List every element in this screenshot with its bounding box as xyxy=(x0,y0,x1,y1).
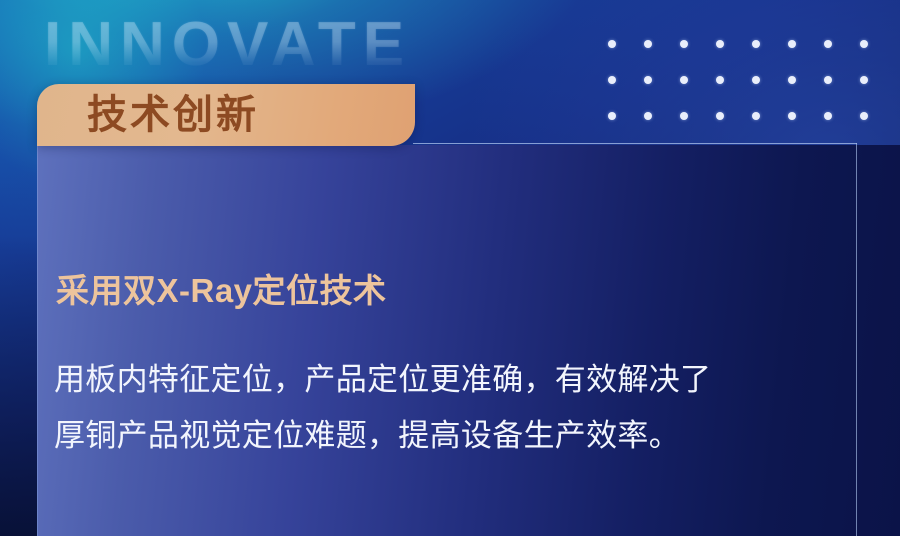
content-panel xyxy=(37,145,900,536)
panel-right-hairline xyxy=(856,143,857,536)
panel-body-line: 用板内特征定位，产品定位更准确，有效解决了 xyxy=(54,352,854,408)
section-tab: 技术创新 xyxy=(37,84,415,146)
innovate-watermark-text: INNOVATE xyxy=(44,14,411,76)
panel-body-line: 厚铜产品视觉定位难题，提高设备生产效率。 xyxy=(54,408,854,464)
panel-headline: 采用双X-Ray定位技术 xyxy=(56,274,387,307)
slide-canvas: INNOVATE 技术创新 采用双X-Ray定位技术 用板内特征定位，产品定位更… xyxy=(0,0,900,536)
panel-left-edge xyxy=(37,145,38,536)
panel-top-hairline xyxy=(413,143,857,144)
section-tab-label: 技术创新 xyxy=(87,95,259,135)
panel-body-copy: 用板内特征定位，产品定位更准确，有效解决了厚铜产品视觉定位难题，提高设备生产效率… xyxy=(54,352,854,464)
